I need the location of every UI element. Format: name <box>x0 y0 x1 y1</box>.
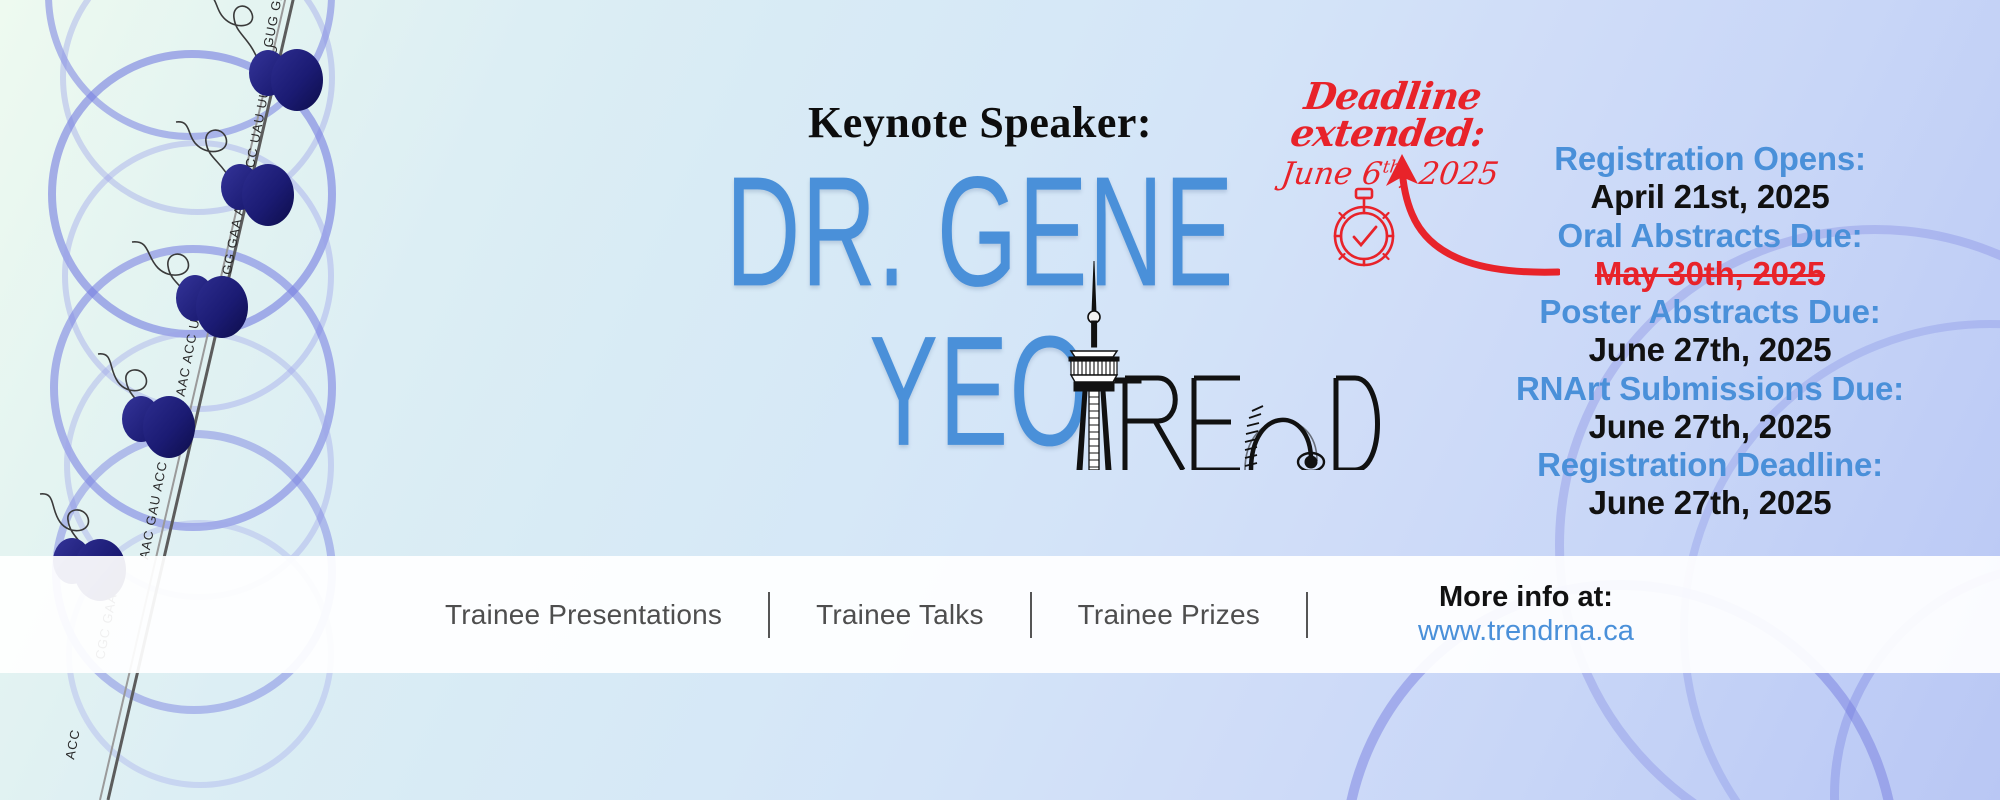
more-info-block: More info at: www.trendrna.ca <box>1418 581 1634 647</box>
footer-divider <box>1306 592 1308 638</box>
deadline-term: Oral Abstracts Due: <box>1430 217 1990 255</box>
footer-item-trainee-talks[interactable]: Trainee Talks <box>816 599 984 631</box>
deadline-date: April 21st, 2025 <box>1430 178 1990 216</box>
codon-label: ACC <box>62 728 83 761</box>
deadline-term: RNArt Submissions Due: <box>1430 370 1990 408</box>
trend-logo <box>1055 255 1385 470</box>
footer-divider <box>768 592 770 638</box>
mrna-strand <box>100 0 300 800</box>
ribosome <box>122 396 195 458</box>
logo-letter-E <box>1194 378 1240 470</box>
footer-divider <box>1030 592 1032 638</box>
more-info-label: More info at: <box>1418 581 1634 614</box>
deadline-term: Poster Abstracts Due: <box>1430 293 1990 331</box>
footer-item-trainee-presentations[interactable]: Trainee Presentations <box>445 599 722 631</box>
logo-letter-D <box>1336 378 1378 470</box>
keynote-label: Keynote Speaker: <box>600 100 1360 146</box>
cn-tower-icon <box>1069 261 1141 470</box>
deadline-term: Registration Deadline: <box>1430 446 1990 484</box>
conference-banner: GUG GAA ACC UAU UUU AUU ACC UGG GAA AAC … <box>0 0 2000 800</box>
footer-item-trainee-prizes[interactable]: Trainee Prizes <box>1078 599 1260 631</box>
rna-hairpin-icon <box>1245 406 1324 470</box>
logo-letter-R <box>1125 378 1183 470</box>
deadline-date: June 27th, 2025 <box>1430 484 1990 522</box>
deadline-list: Registration Opens: April 21st, 2025 Ora… <box>1430 140 1990 523</box>
footer-items: Trainee Presentations Trainee Talks Trai… <box>445 581 1634 647</box>
footer-bar: Trainee Presentations Trainee Talks Trai… <box>0 556 2000 673</box>
deadline-date: June 27th, 2025 <box>1430 331 1990 369</box>
deadline-term: Registration Opens: <box>1430 140 1990 178</box>
deadline-date: June 27th, 2025 <box>1430 408 1990 446</box>
website-link[interactable]: www.trendrna.ca <box>1418 615 1634 647</box>
deadline-date-struck: May 30th, 2025 <box>1430 255 1990 293</box>
rna-translation-illustration: GUG GAA ACC UAU UUU AUU ACC UGG GAA AAC … <box>0 0 440 800</box>
